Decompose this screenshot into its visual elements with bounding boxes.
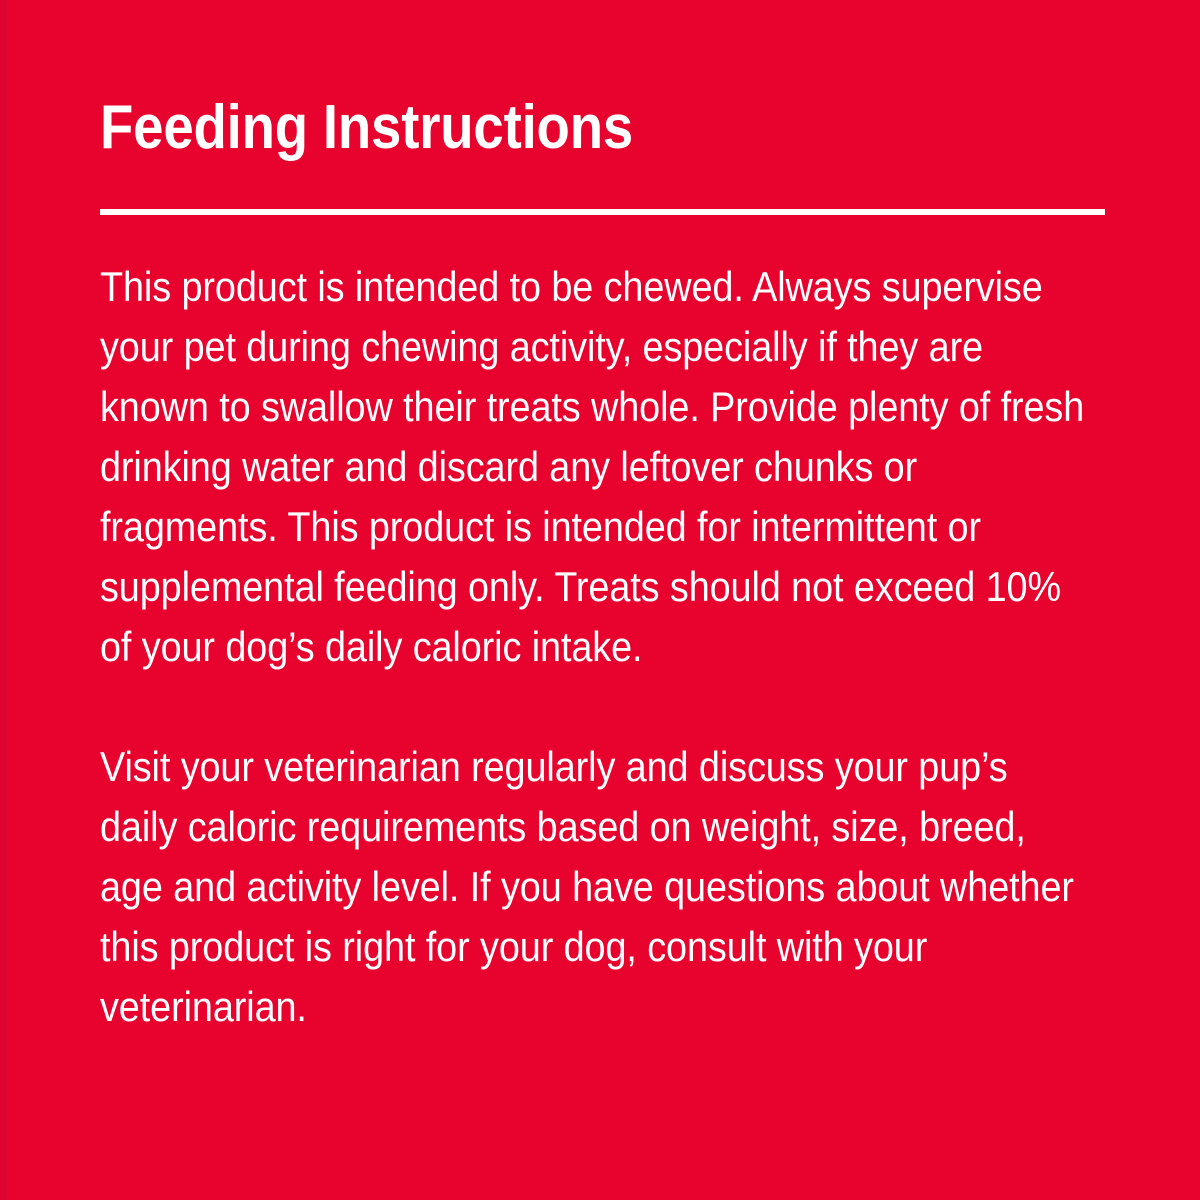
page-title: Feeding Instructions — [100, 92, 984, 164]
content-column: Feeding Instructions This product is int… — [100, 92, 1105, 1037]
body-copy: This product is intended to be chewed. A… — [100, 257, 1090, 1037]
panel-left-edge-shade — [0, 0, 7, 1200]
title-divider — [100, 209, 1105, 215]
feeding-instructions-paragraph-1: This product is intended to be chewed. A… — [100, 257, 1090, 677]
feeding-instructions-paragraph-2: Visit your veterinarian regularly and di… — [100, 737, 1090, 1037]
feeding-instructions-panel: Feeding Instructions This product is int… — [0, 0, 1200, 1200]
